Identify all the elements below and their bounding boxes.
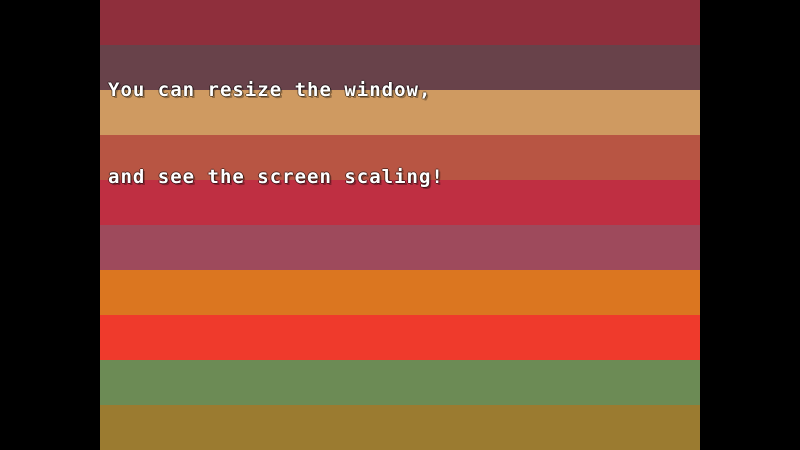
- band-5-bright-crimson: [100, 180, 700, 225]
- band-9-olive-green: [100, 360, 700, 405]
- app-window: You can resize the window, and see the s…: [0, 0, 800, 450]
- color-band-stack: [100, 0, 700, 450]
- scaled-viewport: You can resize the window, and see the s…: [100, 0, 700, 450]
- band-2-muted-plum: [100, 45, 700, 90]
- band-7-orange: [100, 270, 700, 315]
- letterbox-left: [0, 0, 100, 450]
- band-10-dark-gold: [100, 405, 700, 450]
- band-1-dark-crimson: [100, 0, 700, 45]
- band-6-dusty-rose: [100, 225, 700, 270]
- band-8-vivid-red: [100, 315, 700, 360]
- letterbox-right: [700, 0, 800, 450]
- band-3-sandy-tan: [100, 90, 700, 135]
- band-4-brick-red: [100, 135, 700, 180]
